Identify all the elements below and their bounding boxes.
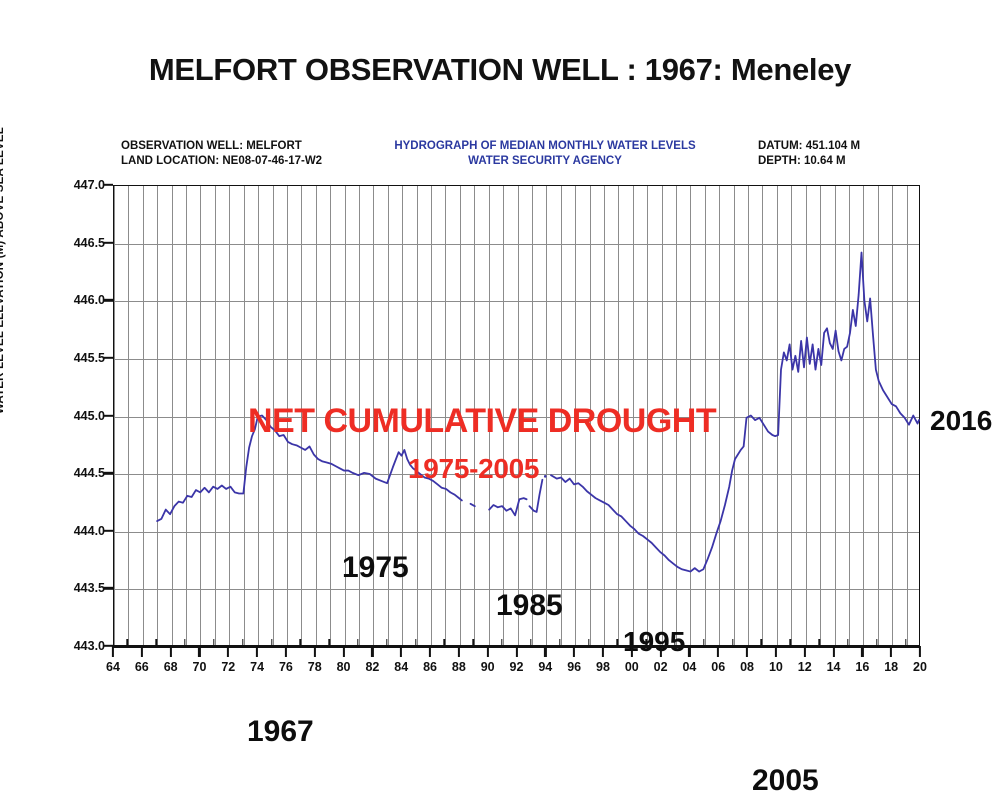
x-tick-mark-major: [775, 646, 777, 657]
x-tick-mark-major: [400, 646, 402, 657]
y-tick-label: 445.5: [74, 351, 105, 365]
x-tick-mark-major: [429, 646, 431, 657]
x-tick-mark-major: [660, 646, 662, 657]
x-tick-mark-major: [631, 646, 633, 657]
x-tick-mark-major: [717, 646, 719, 657]
x-tick-mark-major: [487, 646, 489, 657]
x-tick-mark-major: [198, 646, 200, 657]
x-tick-label: 72: [221, 660, 235, 674]
x-tick-mark-major: [890, 646, 892, 657]
x-tick-label: 16: [855, 660, 869, 674]
x-tick-mark-major: [861, 646, 863, 657]
page-title: MELFORT OBSERVATION WELL : 1967: Meneley: [0, 52, 1000, 88]
x-tick-label: 78: [308, 660, 322, 674]
x-tick-mark-minor: [674, 639, 675, 646]
y-tick-mark: [104, 299, 113, 301]
y-tick-label: 443.0: [74, 639, 105, 653]
y-tick-label: 444.5: [74, 466, 105, 480]
hydrograph-page: MELFORT OBSERVATION WELL : 1967: Meneley…: [0, 0, 1000, 707]
annotation-2016: 2016: [930, 405, 992, 437]
x-tick-mark-minor: [559, 639, 560, 646]
x-tick-label: 00: [625, 660, 639, 674]
x-tick-label: 20: [913, 660, 927, 674]
x-tick-label: 18: [884, 660, 898, 674]
x-tick-mark-minor: [905, 639, 906, 646]
x-tick-label: 66: [135, 660, 149, 674]
x-tick-mark-minor: [271, 639, 272, 646]
header-center-block: HYDROGRAPH OF MEDIAN MONTHLY WATER LEVEL…: [370, 139, 720, 169]
header-right-block: DATUM: 451.104 M DEPTH: 10.64 M: [758, 139, 860, 169]
x-tick-label: 68: [164, 660, 178, 674]
x-tick-mark-major: [256, 646, 258, 657]
x-tick-label: 76: [279, 660, 293, 674]
agency-label: WATER SECURITY AGENCY: [370, 154, 720, 169]
x-tick-mark-minor: [588, 639, 589, 646]
y-axis-title: WATER LEVEL ELEVATION (M) ABOVE SEA LEVE…: [0, 127, 6, 414]
x-tick-mark-minor: [473, 639, 474, 646]
x-axis: 6466687072747678808284868890929496980002…: [113, 646, 920, 686]
x-tick-mark-minor: [876, 639, 877, 646]
series-line: [489, 498, 526, 515]
x-tick-mark-minor: [184, 639, 185, 646]
annotation-1967: 1967: [247, 715, 314, 749]
x-tick-mark-minor: [530, 639, 531, 646]
x-tick-label: 04: [682, 660, 696, 674]
x-tick-mark-major: [832, 646, 834, 657]
y-tick-mark: [104, 241, 113, 243]
plot-area: NET CUMULATIVE DROUGHT 1975-2005 1967 19…: [113, 185, 920, 646]
annotation-1985: 1985: [496, 589, 563, 623]
x-tick-label: 08: [740, 660, 754, 674]
y-tick-label: 447.0: [74, 178, 105, 192]
y-axis: WATER LEVEL ELEVATION (M) ABOVE SEA LEVE…: [0, 0, 113, 707]
x-tick-mark-major: [688, 646, 690, 657]
x-tick-label: 64: [106, 660, 120, 674]
x-tick-label: 12: [798, 660, 812, 674]
x-tick-label: 02: [654, 660, 668, 674]
x-tick-mark-minor: [645, 639, 646, 646]
x-tick-label: 92: [510, 660, 524, 674]
x-tick-mark-major: [141, 646, 143, 657]
x-tick-mark-major: [314, 646, 316, 657]
y-tick-mark: [104, 184, 113, 186]
x-tick-mark-minor: [703, 639, 704, 646]
x-tick-mark-minor: [386, 639, 387, 646]
depth-label: DEPTH: 10.64 M: [758, 154, 860, 169]
y-tick-mark: [104, 530, 113, 532]
x-tick-mark-minor: [357, 639, 358, 646]
x-tick-mark-minor: [444, 639, 445, 646]
x-tick-mark-major: [515, 646, 517, 657]
x-tick-mark-major: [804, 646, 806, 657]
x-tick-label: 80: [337, 660, 351, 674]
x-tick-label: 14: [827, 660, 841, 674]
y-tick-label: 446.0: [74, 293, 105, 307]
annotation-net-cumulative-drought: NET CUMULATIVE DROUGHT: [248, 402, 716, 441]
x-tick-mark-major: [544, 646, 546, 657]
x-tick-label: 74: [250, 660, 264, 674]
y-tick-mark: [104, 472, 113, 474]
annotation-2005: 2005: [752, 764, 819, 798]
x-tick-mark-minor: [300, 639, 301, 646]
x-tick-mark-major: [342, 646, 344, 657]
hydrograph-subtitle: HYDROGRAPH OF MEDIAN MONTHLY WATER LEVEL…: [370, 139, 720, 154]
y-tick-mark: [104, 587, 113, 589]
header-left-block: OBSERVATION WELL: MELFORT LAND LOCATION:…: [121, 139, 322, 169]
x-tick-mark-minor: [242, 639, 243, 646]
series-point: [544, 475, 547, 478]
observation-well-label: OBSERVATION WELL: MELFORT: [121, 139, 322, 154]
x-tick-mark-major: [919, 646, 921, 657]
x-tick-label: 70: [193, 660, 207, 674]
x-tick-mark-major: [227, 646, 229, 657]
x-tick-mark-major: [371, 646, 373, 657]
x-tick-mark-minor: [156, 639, 157, 646]
x-tick-label: 94: [538, 660, 552, 674]
x-tick-mark-minor: [818, 639, 819, 646]
x-tick-mark-major: [573, 646, 575, 657]
series-line: [471, 504, 475, 506]
x-tick-label: 86: [423, 660, 437, 674]
x-tick-mark-minor: [847, 639, 848, 646]
x-tick-mark-minor: [617, 639, 618, 646]
x-tick-label: 88: [452, 660, 466, 674]
x-tick-mark-minor: [790, 639, 791, 646]
x-tick-mark-minor: [213, 639, 214, 646]
y-tick-mark: [104, 357, 113, 359]
annotation-1975: 1975: [342, 551, 409, 585]
x-tick-label: 84: [394, 660, 408, 674]
x-tick-mark-major: [170, 646, 172, 657]
y-tick-label: 445.0: [74, 409, 105, 423]
y-tick-mark: [104, 414, 113, 416]
x-tick-mark-minor: [761, 639, 762, 646]
datum-label: DATUM: 451.104 M: [758, 139, 860, 154]
x-tick-label: 98: [596, 660, 610, 674]
x-tick-mark-major: [602, 646, 604, 657]
x-tick-label: 96: [567, 660, 581, 674]
y-tick-label: 446.5: [74, 236, 105, 250]
x-tick-mark-major: [458, 646, 460, 657]
x-tick-label: 82: [365, 660, 379, 674]
x-tick-mark-major: [285, 646, 287, 657]
x-tick-label: 10: [769, 660, 783, 674]
x-tick-mark-major: [112, 646, 114, 657]
x-tick-mark-minor: [328, 639, 329, 646]
y-tick-label: 443.5: [74, 581, 105, 595]
x-tick-mark-major: [746, 646, 748, 657]
land-location-label: LAND LOCATION: NE08-07-46-17-W2: [121, 154, 322, 169]
x-tick-label: 90: [481, 660, 495, 674]
y-tick-label: 444.0: [74, 524, 105, 538]
x-tick-mark-minor: [732, 639, 733, 646]
x-tick-mark-minor: [415, 639, 416, 646]
x-tick-mark-minor: [127, 639, 128, 646]
x-tick-mark-minor: [501, 639, 502, 646]
x-tick-label: 06: [711, 660, 725, 674]
annotation-drought-years: 1975-2005: [408, 453, 539, 485]
